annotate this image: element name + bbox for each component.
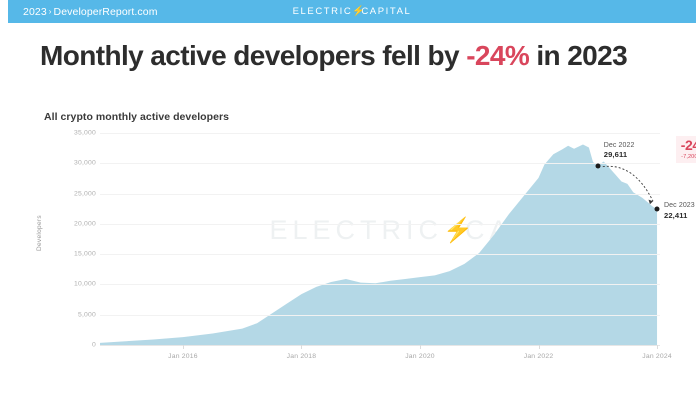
x-axis-tick-mark xyxy=(539,345,540,349)
annotation-date: Dec 2023 xyxy=(664,201,695,210)
headline-accent-value: -24% xyxy=(466,40,529,71)
annotation-layer: Dec 202229,611Dec 202322,411-24%-7,200 d… xyxy=(40,133,660,373)
x-axis-tick-mark xyxy=(183,345,184,349)
annotation-peak-dec-2022: Dec 202229,611 xyxy=(604,141,635,161)
trend-arrow-curve xyxy=(603,166,653,201)
brand-logo-right: CAPITAL xyxy=(361,6,411,17)
data-point-peak-dec-2022 xyxy=(595,163,600,168)
data-point-end-dec-2023 xyxy=(655,207,660,212)
top-banner: 2023›DeveloperReport.com ELECTRIC ⚡ CAPI… xyxy=(8,0,696,23)
x-axis-tick-mark xyxy=(301,345,302,349)
annotation-date: Dec 2022 xyxy=(604,141,635,150)
x-axis-tick-label: Jan 2020 xyxy=(405,353,435,360)
badge-percent: -24% xyxy=(681,138,696,152)
x-axis-tick-label: Jan 2016 xyxy=(168,353,198,360)
annotation-value: 22,411 xyxy=(664,211,695,221)
x-axis-tick-label: Jan 2024 xyxy=(642,353,672,360)
x-axis-tick-label: Jan 2022 xyxy=(524,353,554,360)
bolt-icon: ⚡ xyxy=(352,6,361,17)
brand-logo: ELECTRIC ⚡ CAPITAL xyxy=(8,0,696,23)
x-axis-tick-mark xyxy=(420,345,421,349)
x-axis-tick-mark xyxy=(657,345,658,349)
headline-text-before: Monthly active developers fell by xyxy=(40,40,466,71)
trend-arrow-head xyxy=(649,200,654,205)
badge-subtext: -7,200 devs xyxy=(681,155,696,161)
chart-subtitle: All crypto monthly active developers xyxy=(44,111,229,123)
chart-container: Developers 05,00010,00015,00020,00025,00… xyxy=(40,133,660,373)
annotation-value: 29,611 xyxy=(604,150,635,160)
page-title: Monthly active developers fell by -24% i… xyxy=(40,40,627,72)
brand-logo-left: ELECTRIC xyxy=(293,6,353,17)
x-axis-tick-label: Jan 2018 xyxy=(287,353,317,360)
trend-arrow xyxy=(40,133,660,373)
change-badge: -24%-7,200 devs xyxy=(676,136,696,164)
annotation-end-dec-2023: Dec 202322,411 xyxy=(664,201,695,221)
headline-text-after: in 2023 xyxy=(529,40,627,71)
